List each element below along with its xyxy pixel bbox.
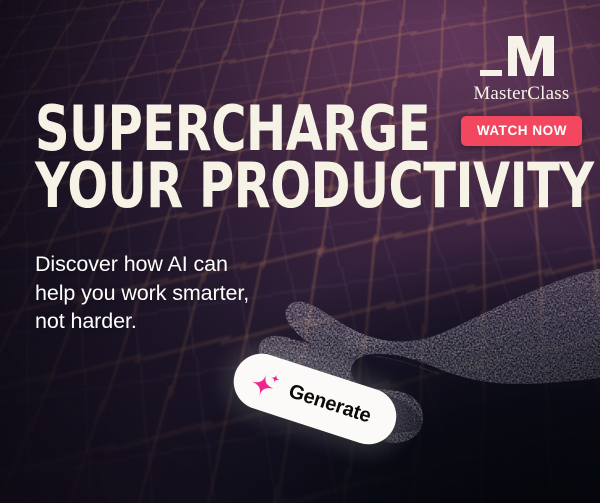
watch-now-button[interactable]: WATCH NOW [461, 116, 582, 146]
masterclass-ad-banner: MasterClass WATCH NOW SUPERCHARGE YOUR P… [0, 0, 600, 503]
headline-line-2: YOUR PRODUCTIVITY [35, 159, 594, 212]
subheading-line-2: help you work smarter, [35, 279, 249, 308]
brand-cluster: MasterClass WATCH NOW [461, 34, 582, 146]
subheading-line-1: Discover how AI can [35, 250, 249, 279]
subheading-line-3: not harder. [35, 307, 249, 336]
brand-wordmark: MasterClass [473, 84, 569, 103]
subheading: Discover how AI can help you work smarte… [35, 250, 249, 336]
masterclass-m-logo [478, 34, 564, 80]
generate-button-label: Generate [286, 381, 373, 426]
sparkle-icon [247, 363, 285, 403]
